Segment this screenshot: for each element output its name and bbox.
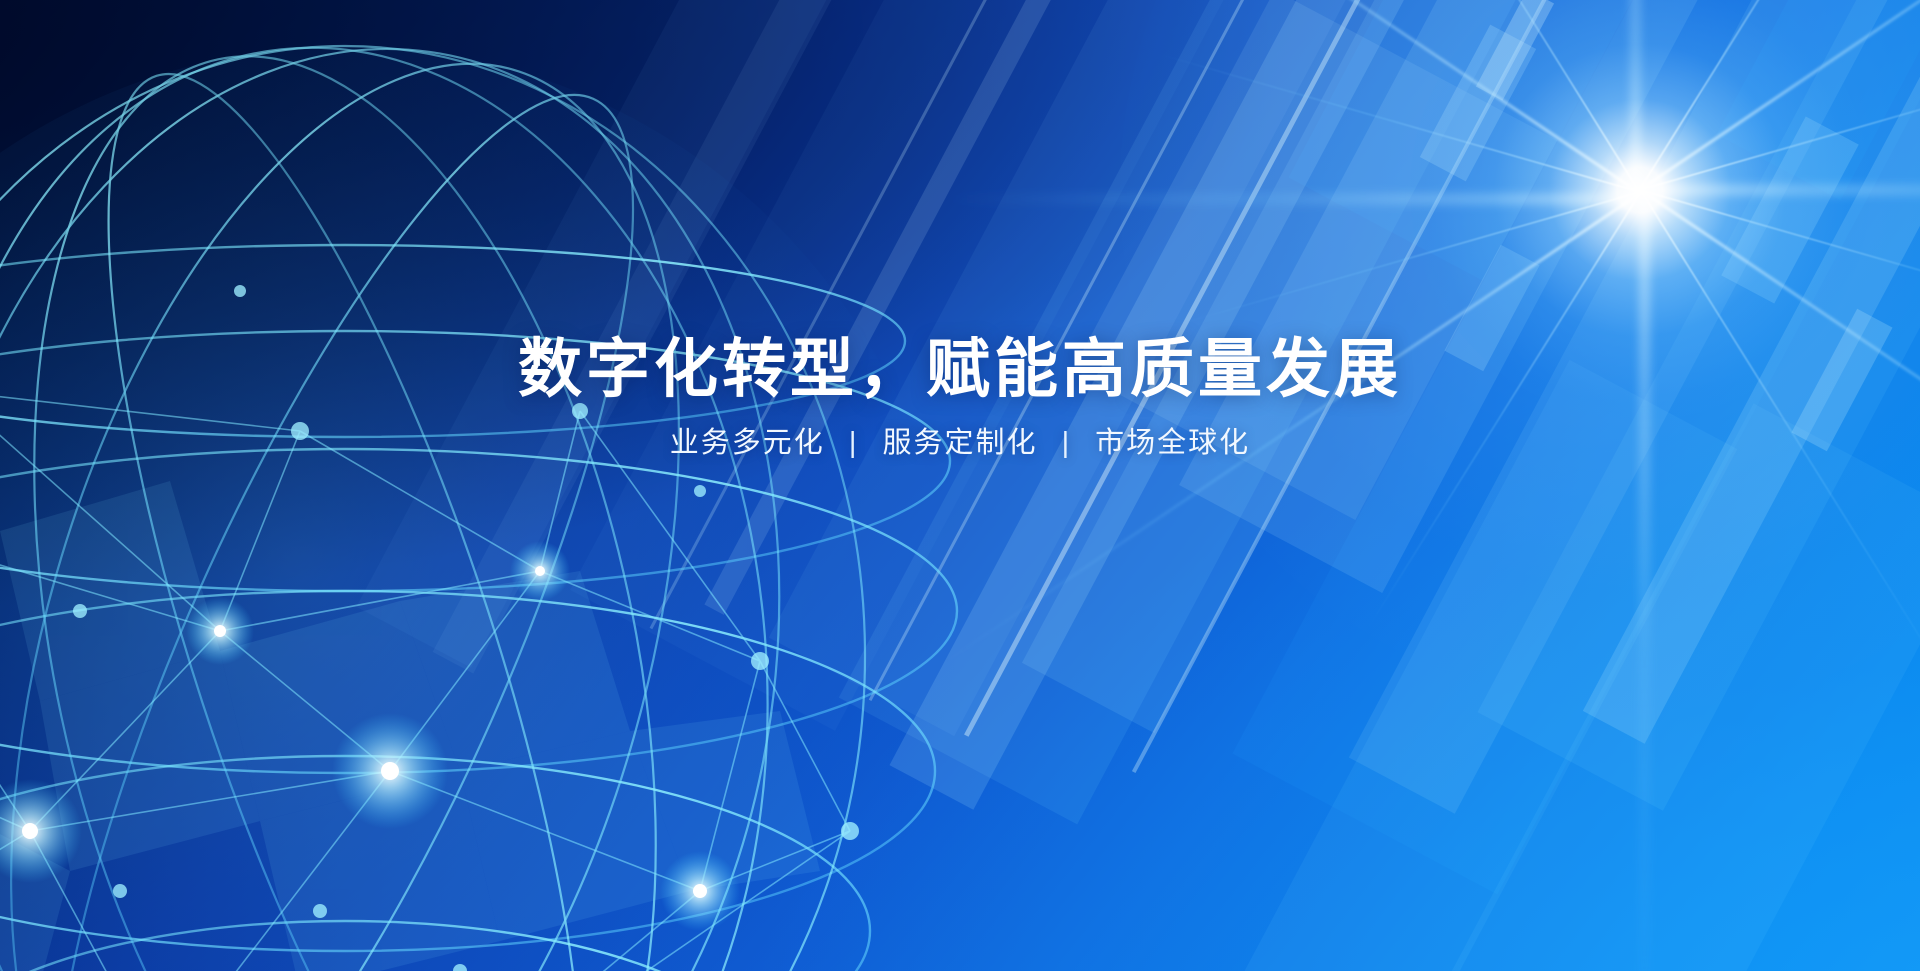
- subtitle-item-3: 市场全球化: [1095, 427, 1250, 459]
- subtitle-separator: |: [835, 426, 873, 461]
- hero-banner: 数字化转型，赋能高质量发展 业务多元化 | 服务定制化 | 市场全球化: [0, 0, 1920, 971]
- subtitle-item-1: 业务多元化: [670, 427, 825, 459]
- banner-subtitle: 业务多元化 | 服务定制化 | 市场全球化: [0, 426, 1920, 461]
- banner-text-block: 数字化转型，赋能高质量发展 业务多元化 | 服务定制化 | 市场全球化: [0, 336, 1920, 461]
- subtitle-item-2: 服务定制化: [882, 427, 1037, 459]
- page-title: 数字化转型，赋能高质量发展: [0, 336, 1920, 404]
- subtitle-separator: |: [1048, 426, 1086, 461]
